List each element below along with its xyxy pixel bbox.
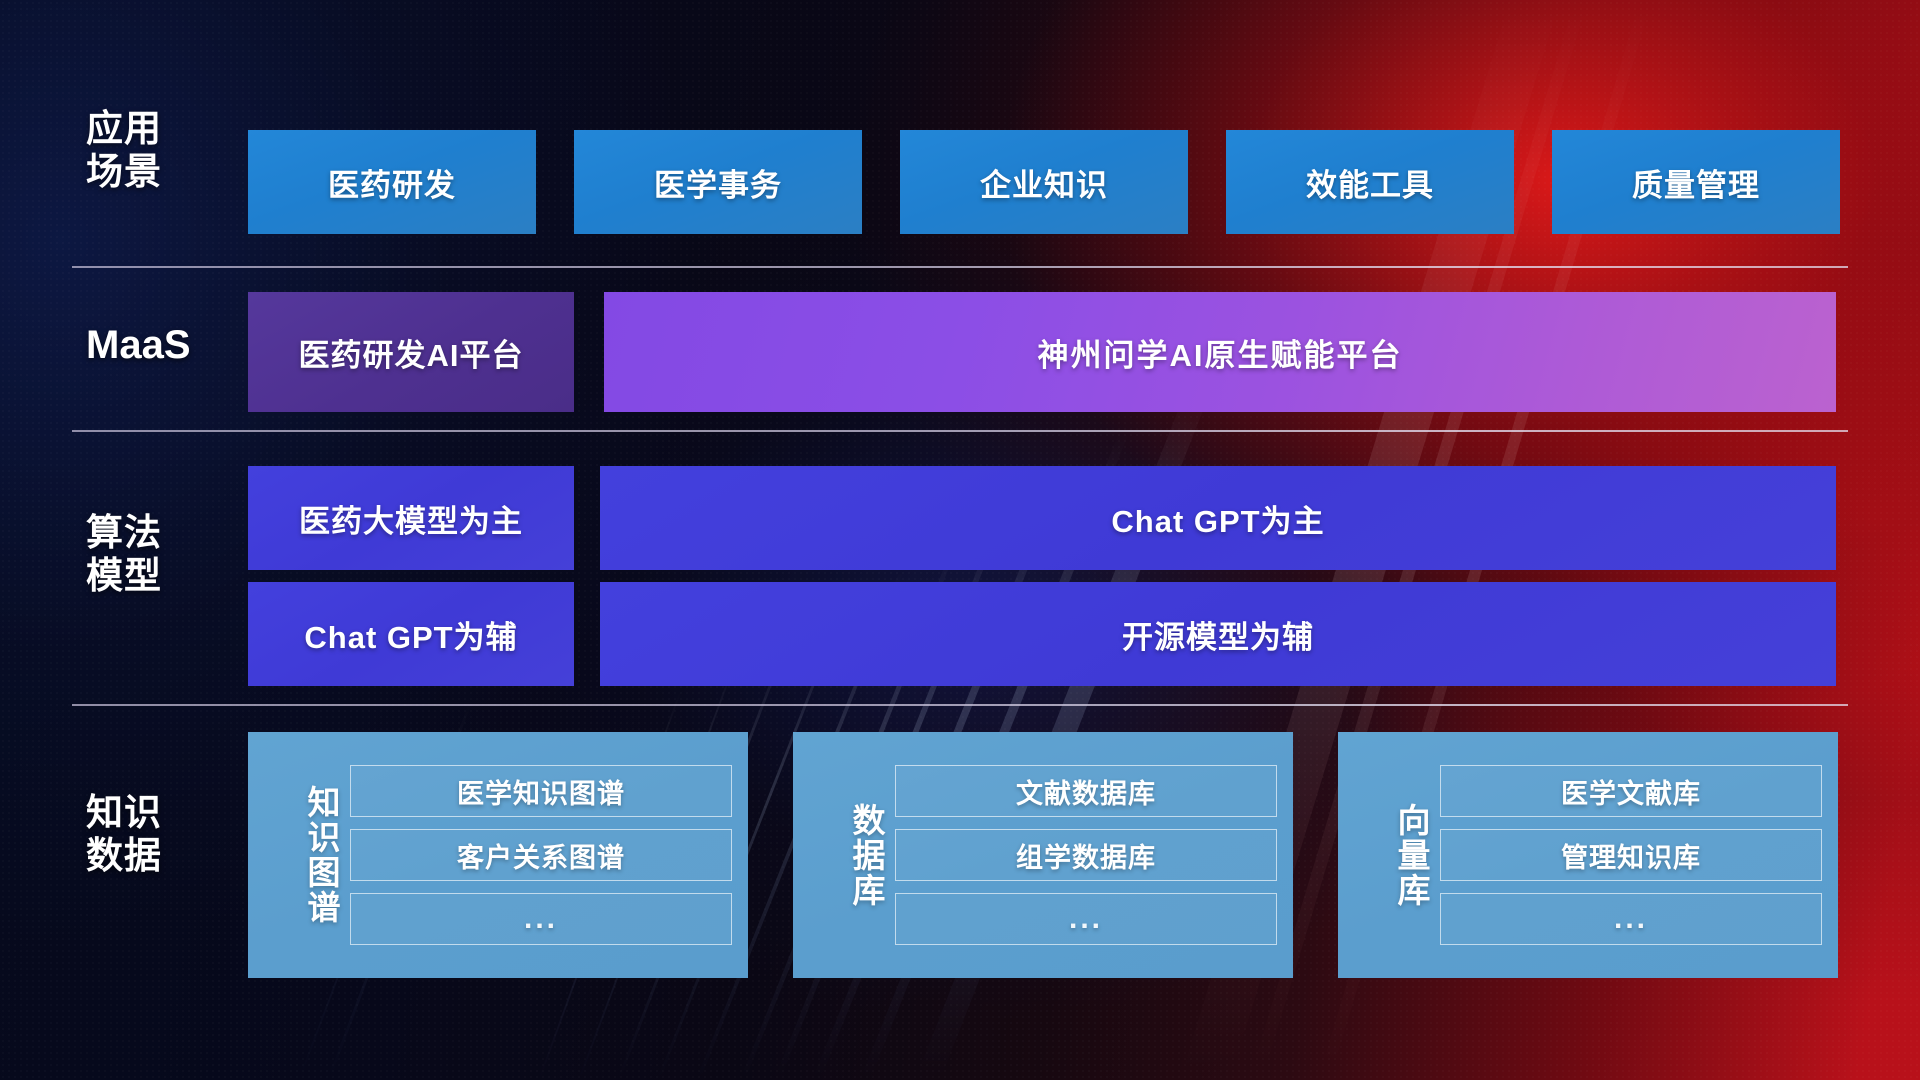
knowledge-item-more[interactable]: ... [1440,893,1822,945]
app-box-quality-management[interactable]: 质量管理 [1552,130,1840,234]
algo-box-medicine-large-model-primary[interactable]: 医药大模型为主 [248,466,574,570]
knowledge-item-more[interactable]: ... [895,893,1277,945]
row-label-line-1: 算法 [86,512,236,555]
divider-after-maas [72,430,1848,432]
app-box-enterprise-knowledge[interactable]: 企业知识 [900,130,1188,234]
knowledge-group-title: 数据库 [807,803,885,908]
knowledge-group-vector-store[interactable]: 向量库 医学文献库 管理知识库 ... [1338,732,1838,978]
algo-box-label: 开源模型为辅 [1122,612,1314,657]
app-box-efficiency-tools[interactable]: 效能工具 [1226,130,1514,234]
maas-box-shenzhou-wenxue-platform[interactable]: 神州问学AI原生赋能平台 [604,292,1836,412]
divider-after-application-scenario [72,266,1848,268]
maas-box-medicine-rnd-ai-platform[interactable]: 医药研发AI平台 [248,292,574,412]
knowledge-item[interactable]: 管理知识库 [1440,829,1822,881]
app-box-label: 医药研发 [328,160,456,205]
row-label-line-2: 模型 [86,555,236,598]
app-box-medicine-rnd[interactable]: 医药研发 [248,130,536,234]
divider-after-algorithm-model [72,704,1848,706]
knowledge-item[interactable]: 医学文献库 [1440,765,1822,817]
row-label-maas: MaaS [86,322,236,368]
knowledge-item[interactable]: 组学数据库 [895,829,1277,881]
knowledge-item[interactable]: 医学知识图谱 [350,765,732,817]
row-label-line-1: 应用 [86,108,236,151]
knowledge-group-knowledge-graph[interactable]: 知识图谱 医学知识图谱 客户关系图谱 ... [248,732,748,978]
app-box-label: 质量管理 [1632,160,1760,205]
knowledge-group-items: 医学文献库 管理知识库 ... [1440,765,1822,945]
knowledge-item[interactable]: 文献数据库 [895,765,1277,817]
row-label-application-scenario: 应用 场景 [86,108,236,194]
algo-box-label: Chat GPT为主 [1111,496,1324,541]
app-box-medical-affairs[interactable]: 医学事务 [574,130,862,234]
knowledge-group-database[interactable]: 数据库 文献数据库 组学数据库 ... [793,732,1293,978]
algo-box-chatgpt-secondary[interactable]: Chat GPT为辅 [248,582,574,686]
app-box-label: 效能工具 [1306,160,1434,205]
knowledge-group-items: 文献数据库 组学数据库 ... [895,765,1277,945]
maas-box-label: 医药研发AI平台 [299,330,524,375]
app-box-label: 医学事务 [654,160,782,205]
knowledge-item[interactable]: 客户关系图谱 [350,829,732,881]
row-label-line-2: 场景 [86,151,236,194]
app-box-label: 企业知识 [980,160,1108,205]
knowledge-group-items: 医学知识图谱 客户关系图谱 ... [350,765,732,945]
row-label-algorithm-model: 算法 模型 [86,512,236,598]
maas-box-label: 神州问学AI原生赋能平台 [1038,330,1403,375]
knowledge-group-title: 向量库 [1352,803,1430,908]
row-label-text: MaaS [86,322,236,368]
diagram-canvas: 应用 场景 医药研发 医学事务 企业知识 效能工具 质量管理 MaaS 医药研发… [0,0,1920,1080]
algo-box-label: 医药大模型为主 [299,496,523,541]
row-label-knowledge-data: 知识 数据 [86,792,236,878]
algo-box-chatgpt-primary[interactable]: Chat GPT为主 [600,466,1836,570]
knowledge-item-more[interactable]: ... [350,893,732,945]
algo-box-label: Chat GPT为辅 [304,612,517,657]
row-label-line-2: 数据 [86,835,236,878]
knowledge-group-title: 知识图谱 [262,785,340,925]
row-label-line-1: 知识 [86,792,236,835]
algo-box-open-source-secondary[interactable]: 开源模型为辅 [600,582,1836,686]
